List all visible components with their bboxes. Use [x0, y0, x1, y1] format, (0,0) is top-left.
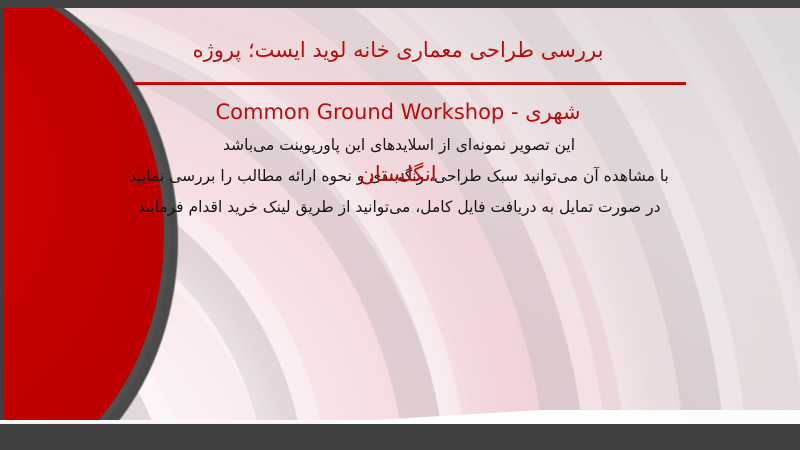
- title-line-2: شهری - Common Ground Workshop: [96, 97, 700, 128]
- slide-text-content: بررسی طراحی معماری خانه لوید ایست؛ پروژه…: [0, 8, 800, 424]
- body-line-3: در صورت تمایل به دریافت فایل کامل، می‌تو…: [90, 192, 708, 223]
- title-line-1: بررسی طراحی معماری خانه لوید ایست؛ پروژه: [96, 35, 700, 66]
- bottom-frame-band: [0, 424, 800, 450]
- slide-content-panel: بررسی طراحی معماری خانه لوید ایست؛ پروژه…: [0, 8, 800, 424]
- slide-title: بررسی طراحی معماری خانه لوید ایست؛ پروژه…: [96, 8, 700, 221]
- title-line-2-text: شهری - Common Ground Workshop: [215, 100, 580, 124]
- title-line-3: انگلستان: [96, 159, 700, 190]
- body-line-1: این تصویر نمونه‌ای از اسلایدهای این پاور…: [90, 130, 708, 161]
- title-divider-rule: [133, 82, 686, 85]
- presentation-slide: بررسی طراحی معماری خانه لوید ایست؛ پروژه…: [0, 0, 800, 450]
